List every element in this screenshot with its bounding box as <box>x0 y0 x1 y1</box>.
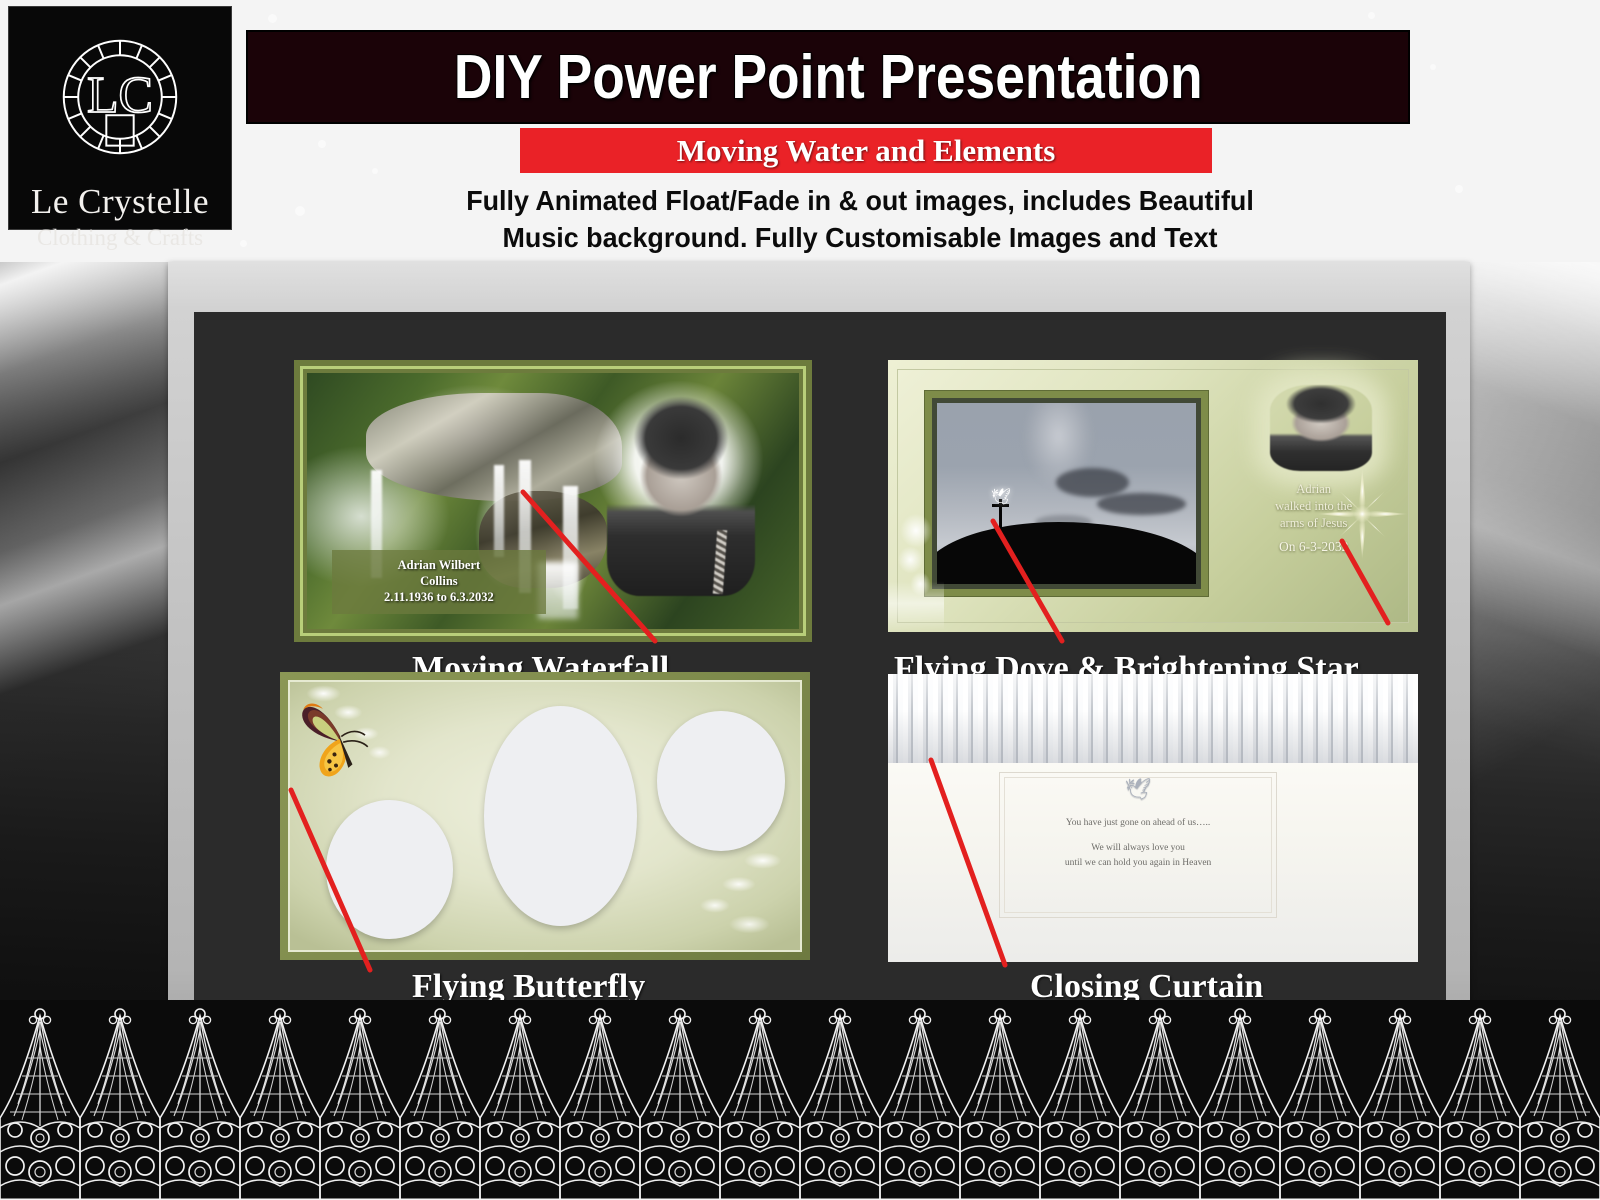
memorial-nameplate: Adrian Wilbert Collins 2.11.1936 to 6.3.… <box>332 550 547 614</box>
cloud <box>1097 493 1185 515</box>
memorial-dates: 2.11.1936 to 6.3.2032 <box>336 589 543 605</box>
butterfly-icon <box>295 687 382 783</box>
sparkle-speck <box>1368 12 1375 19</box>
sparkle-speck <box>1455 185 1463 193</box>
closing-line-1: You have just gone on ahead of us….. <box>1000 816 1276 830</box>
page-title: DIY Power Point Presentation <box>454 42 1203 113</box>
description-line-1: Fully Animated Float/Fade in & out image… <box>322 183 1397 220</box>
memorial-portrait <box>1270 385 1372 471</box>
svg-text:LC: LC <box>87 67 153 124</box>
cloud <box>1056 468 1129 497</box>
panel3-mat <box>288 680 802 952</box>
sparkle-speck <box>240 240 247 247</box>
portrait-photo <box>607 396 755 596</box>
memorial-message-line-1: Adrian <box>1242 481 1385 498</box>
subtitle-text: Moving Water and Elements <box>677 133 1056 169</box>
dove-icon: 🕊 <box>1125 779 1152 800</box>
lace-scallops <box>0 1009 1600 1200</box>
memorial-name-line-1: Adrian Wilbert <box>336 557 543 573</box>
closing-line-3: until we can hold you again in Heaven <box>1000 856 1276 870</box>
waterfall-photo: Adrian Wilbert Collins 2.11.1936 to 6.3.… <box>307 373 799 629</box>
slide-board: Adrian Wilbert Collins 2.11.1936 to 6.3.… <box>194 312 1446 1004</box>
foliage-decoration-bottom-right <box>667 837 800 955</box>
brand-logo[interactable]: LC Le Crystelle Clothing & Crafts <box>8 6 232 230</box>
photo-placeholder-oval[interactable] <box>657 711 785 850</box>
panel-flying-dove-star[interactable]: 🕊 <box>888 360 1418 632</box>
closing-message-text: You have just gone on ahead of us….. We … <box>1000 816 1276 870</box>
sparkle-speck <box>318 140 326 148</box>
memorial-message-line-3: arms of Jesus <box>1242 515 1385 532</box>
closing-message-card: 🕊 You have just gone on ahead of us….. W… <box>999 772 1277 918</box>
dove-icon: 🕊 <box>991 490 1013 504</box>
dove-image-frame-outer: 🕊 <box>924 390 1210 597</box>
sparkle-speck <box>268 14 277 23</box>
silver-display-frame: Adrian Wilbert Collins 2.11.1936 to 6.3.… <box>168 262 1470 1030</box>
panel-closing-curtain[interactable]: 🕊 You have just gone on ahead of us….. W… <box>888 674 1418 962</box>
subtitle-banner: Moving Water and Elements <box>520 128 1212 173</box>
closing-line-2: We will always love you <box>1000 841 1276 855</box>
photo-placeholder-oval[interactable] <box>326 800 454 939</box>
waterfall-stream <box>494 465 504 557</box>
jesus-figure-overlay <box>1014 403 1102 529</box>
panel-moving-waterfall[interactable]: Adrian Wilbert Collins 2.11.1936 to 6.3.… <box>294 360 812 642</box>
sparkle-speck <box>1430 64 1436 70</box>
memorial-message-line-2: walked into the <box>1242 498 1385 515</box>
memorial-message-date: On 6-3-2032 <box>1245 539 1383 555</box>
description-text: Fully Animated Float/Fade in & out image… <box>300 183 1420 256</box>
sparkle-speck <box>372 168 378 174</box>
gem-diamond-icon: LC <box>44 21 196 178</box>
logo-tagline: Clothing & Crafts <box>37 226 203 249</box>
logo-brand-name: Le Crystelle <box>31 184 209 219</box>
dove-image-frame-inner: 🕊 <box>932 398 1202 589</box>
lace-border-decoration <box>0 1000 1600 1200</box>
panel-flying-butterfly[interactable] <box>280 672 810 960</box>
panel1-mat: Adrian Wilbert Collins 2.11.1936 to 6.3.… <box>300 366 806 636</box>
memorial-message: Adrian walked into the arms of Jesus <box>1242 481 1385 532</box>
memorial-name-line-2: Collins <box>336 573 543 589</box>
lily-flower-decoration <box>888 509 944 630</box>
description-line-2: Music background. Fully Customisable Ima… <box>322 220 1397 257</box>
hill-silhouette <box>937 522 1197 583</box>
photo-placeholder-oval[interactable] <box>484 706 637 926</box>
necktie <box>713 530 728 594</box>
panel2-mat: 🕊 <box>897 369 1409 623</box>
curtain-drape <box>888 674 1418 763</box>
sky-photo: 🕊 <box>937 403 1197 584</box>
page-title-bar: DIY Power Point Presentation <box>246 30 1410 124</box>
